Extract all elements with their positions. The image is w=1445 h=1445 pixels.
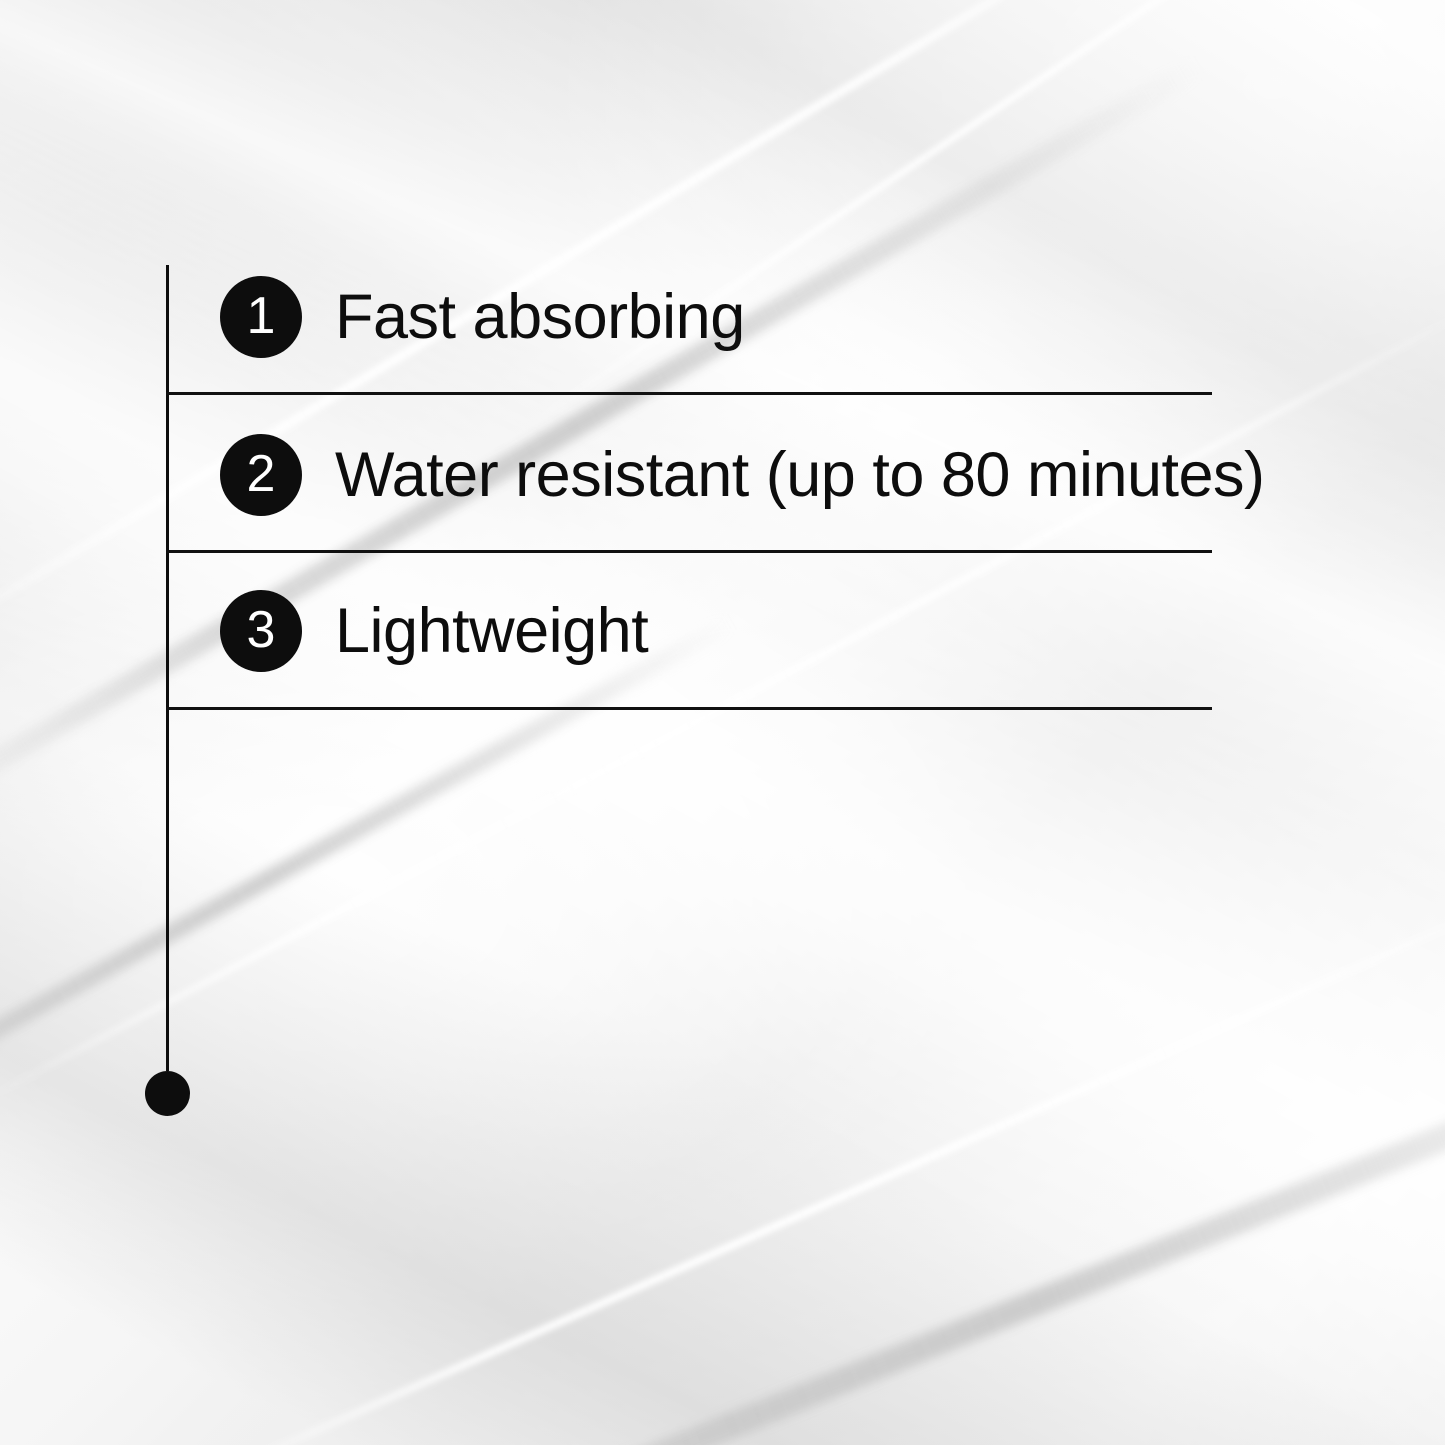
benefit-label-2: Water resistant (up to 80 minutes) <box>335 444 1265 507</box>
benefit-label-1: Fast absorbing <box>335 286 745 349</box>
benefits-list: 1 Fast absorbing 2 Water resistant (up t… <box>0 0 1445 1445</box>
benefit-row-1: 1 Fast absorbing <box>220 275 745 359</box>
benefit-row-2: 2 Water resistant (up to 80 minutes) <box>220 433 1265 517</box>
benefit-divider-1 <box>166 392 1212 395</box>
benefit-divider-2 <box>166 550 1212 553</box>
rail-end-dot <box>145 1071 190 1116</box>
vertical-rail-line <box>166 265 169 1071</box>
benefit-divider-3 <box>166 707 1212 710</box>
benefit-number-badge-1: 1 <box>220 276 302 358</box>
benefit-row-3: 3 Lightweight <box>220 589 648 673</box>
benefit-number-badge-3: 3 <box>220 590 302 672</box>
benefit-label-3: Lightweight <box>335 600 648 663</box>
benefit-number-badge-2: 2 <box>220 434 302 516</box>
product-benefits-infographic: 1 Fast absorbing 2 Water resistant (up t… <box>0 0 1445 1445</box>
